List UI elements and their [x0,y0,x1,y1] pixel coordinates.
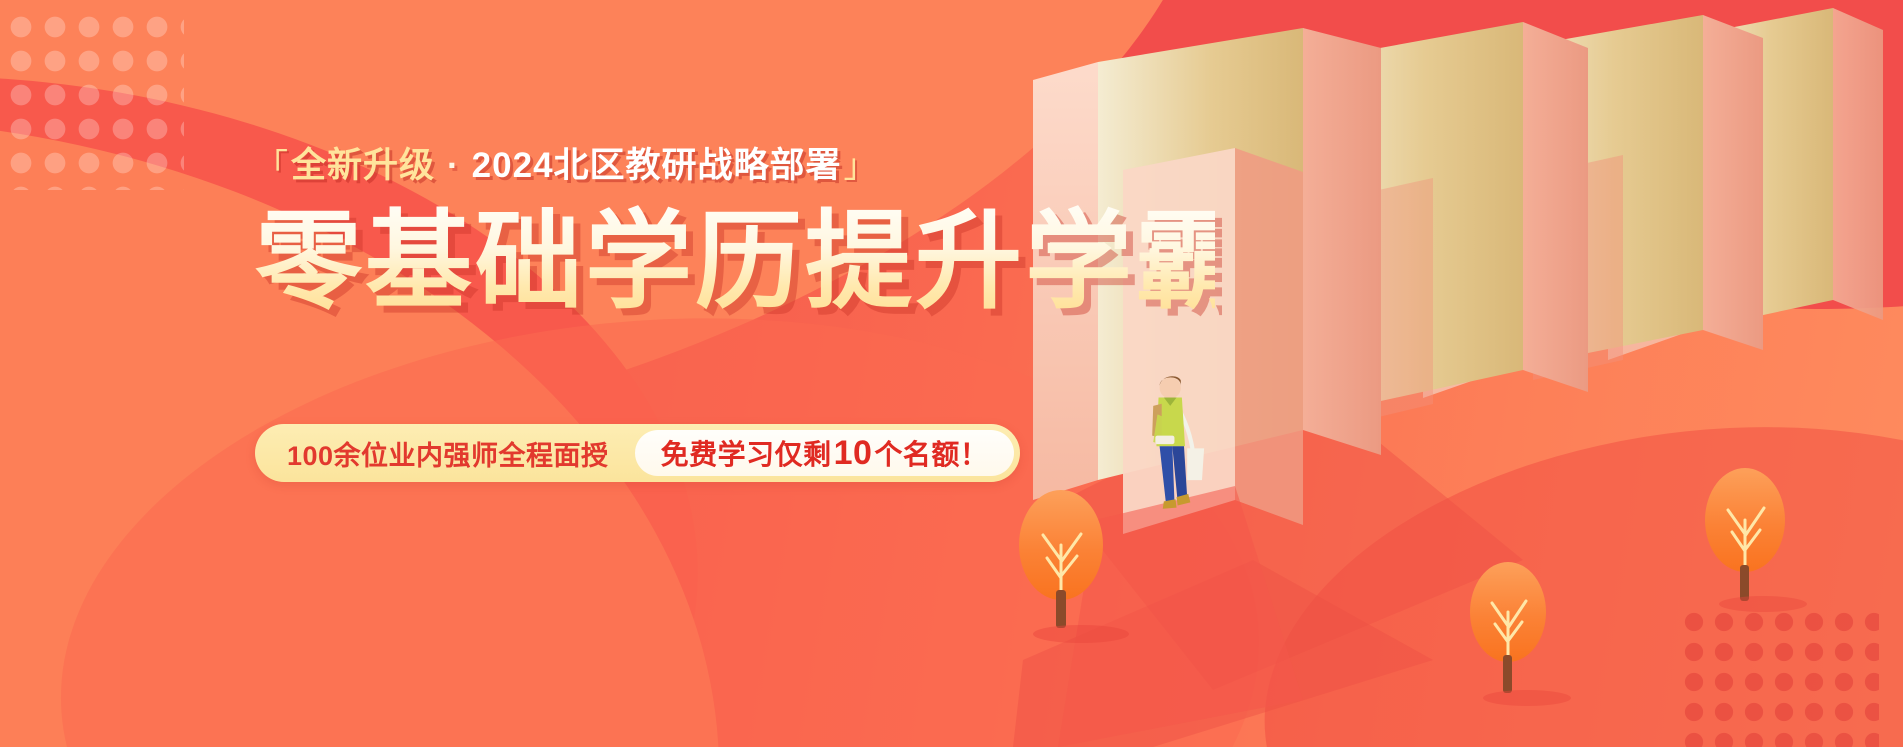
banner-eyebrow: 「 全新升级 · 2024北区教研战略部署 」 [255,148,1215,183]
pill-left-label: 100余位业内强师全程面授 [287,434,635,473]
eyebrow-white-text: 2024北区教研战略部署 [472,148,842,183]
pill-right-prefix: 免费学习仅剩 [661,433,832,473]
bracket-close: 」 [844,149,878,182]
highlight-pill[interactable]: 100余位业内强师全程面授 免费学习仅剩 10 个名额！ [255,424,1020,482]
pill-right-badge[interactable]: 免费学习仅剩 10 个名额！ [635,430,1015,476]
page-title: 零基础学历提升学霸班 [255,205,1215,318]
seats-remaining-count: 10 [832,436,875,470]
bracket-open: 「 [255,149,289,182]
banner-copy: 「 全新升级 · 2024北区教研战略部署 」 零基础学历提升学霸班 100余位… [255,148,1215,482]
dot-grid-bottom-right-icon [1679,607,1879,747]
tree-center [1470,562,1571,706]
promo-banner: 「 全新升级 · 2024北区教研战略部署 」 零基础学历提升学霸班 100余位… [0,0,1903,747]
dot-grid-top-left-icon [4,10,184,190]
eyebrow-separator-icon: · [435,148,472,183]
pill-right-suffix: 个名额！ [874,433,988,473]
eyebrow-gold-text: 全新升级 [291,148,435,183]
tree-right [1705,468,1807,612]
